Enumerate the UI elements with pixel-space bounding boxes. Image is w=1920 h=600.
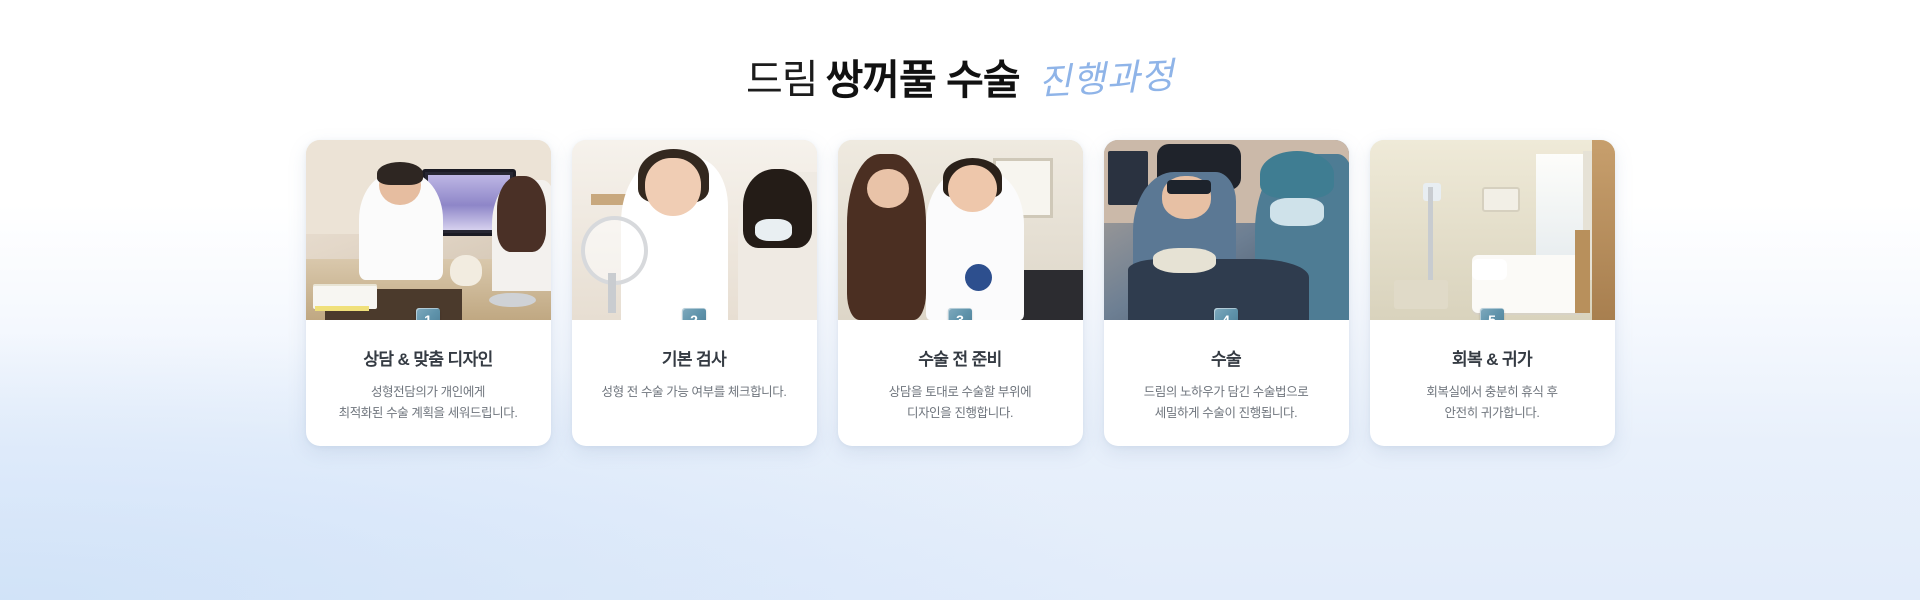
step-number-badge-3: 3 bbox=[948, 308, 972, 320]
page-title: 드림쌍꺼풀 수술진행과정 bbox=[0, 46, 1920, 106]
step-photo-4: 4 bbox=[1104, 140, 1349, 320]
step-photo-1: 1 bbox=[306, 140, 551, 320]
step-number-badge-5: 5 bbox=[1480, 308, 1504, 320]
step-card-3[interactable]: 3 수술 전 준비 상담을 토대로 수술할 부위에 디자인을 진행합니다. bbox=[838, 140, 1083, 446]
page-title-light: 드림 bbox=[746, 58, 818, 102]
step-title-4: 수술 bbox=[1116, 350, 1337, 370]
step-card-2[interactable]: 2 기본 검사 성형 전 수술 가능 여부를 체크합니다. bbox=[572, 140, 817, 446]
step-description-3: 상담을 토대로 수술할 부위에 디자인을 진행합니다. bbox=[850, 382, 1071, 423]
step-number-badge-2: 2 bbox=[682, 308, 706, 320]
step-photo-5: 5 bbox=[1370, 140, 1615, 320]
step-body-3: 수술 전 준비 상담을 토대로 수술할 부위에 디자인을 진행합니다. bbox=[838, 320, 1083, 424]
step-card-1[interactable]: 1 상담 & 맞춤 디자인 성형전담의가 개인에게 최적화된 수술 계획을 세워… bbox=[306, 140, 551, 446]
step-number-badge-1: 1 bbox=[416, 308, 440, 320]
step-description-5: 회복실에서 충분히 휴식 후 안전히 귀가합니다. bbox=[1382, 382, 1603, 423]
step-card-4[interactable]: 4 수술 드림의 노하우가 담긴 수술법으로 세밀하게 수술이 진행됩니다. bbox=[1104, 140, 1349, 446]
page-title-script: 진행과정 bbox=[1036, 46, 1175, 105]
step-description-4: 드림의 노하우가 담긴 수술법으로 세밀하게 수술이 진행됩니다. bbox=[1116, 382, 1337, 423]
surgery-photo bbox=[1104, 140, 1349, 320]
step-title-1: 상담 & 맞춤 디자인 bbox=[318, 350, 539, 370]
step-photo-2: 2 bbox=[572, 140, 817, 320]
pre-surgery-preparation-photo bbox=[838, 140, 1083, 320]
step-title-5: 회복 & 귀가 bbox=[1382, 350, 1603, 370]
basic-examination-photo bbox=[572, 140, 817, 320]
procedure-steps-list: 1 상담 & 맞춤 디자인 성형전담의가 개인에게 최적화된 수술 계획을 세워… bbox=[0, 140, 1920, 446]
step-body-1: 상담 & 맞춤 디자인 성형전담의가 개인에게 최적화된 수술 계획을 세워드립… bbox=[306, 320, 551, 424]
step-description-1: 성형전담의가 개인에게 최적화된 수술 계획을 세워드립니다. bbox=[318, 382, 539, 423]
step-photo-3: 3 bbox=[838, 140, 1083, 320]
procedure-page: 드림쌍꺼풀 수술진행과정 1 상담 & 맞춤 디자인 성형전담의가 개인에게 최… bbox=[0, 0, 1920, 600]
page-title-bold: 쌍꺼풀 수술 bbox=[826, 57, 1020, 103]
step-description-2: 성형 전 수술 가능 여부를 체크합니다. bbox=[584, 382, 805, 403]
step-body-5: 회복 & 귀가 회복실에서 충분히 휴식 후 안전히 귀가합니다. bbox=[1370, 320, 1615, 424]
step-number-badge-4: 4 bbox=[1214, 308, 1238, 320]
step-card-5[interactable]: 5 회복 & 귀가 회복실에서 충분히 휴식 후 안전히 귀가합니다. bbox=[1370, 140, 1615, 446]
recovery-and-discharge-photo bbox=[1370, 140, 1615, 320]
step-body-4: 수술 드림의 노하우가 담긴 수술법으로 세밀하게 수술이 진행됩니다. bbox=[1104, 320, 1349, 424]
step-title-2: 기본 검사 bbox=[584, 350, 805, 370]
consultation-photo bbox=[306, 140, 551, 320]
step-title-3: 수술 전 준비 bbox=[850, 350, 1071, 370]
step-body-2: 기본 검사 성형 전 수술 가능 여부를 체크합니다. bbox=[572, 320, 817, 403]
